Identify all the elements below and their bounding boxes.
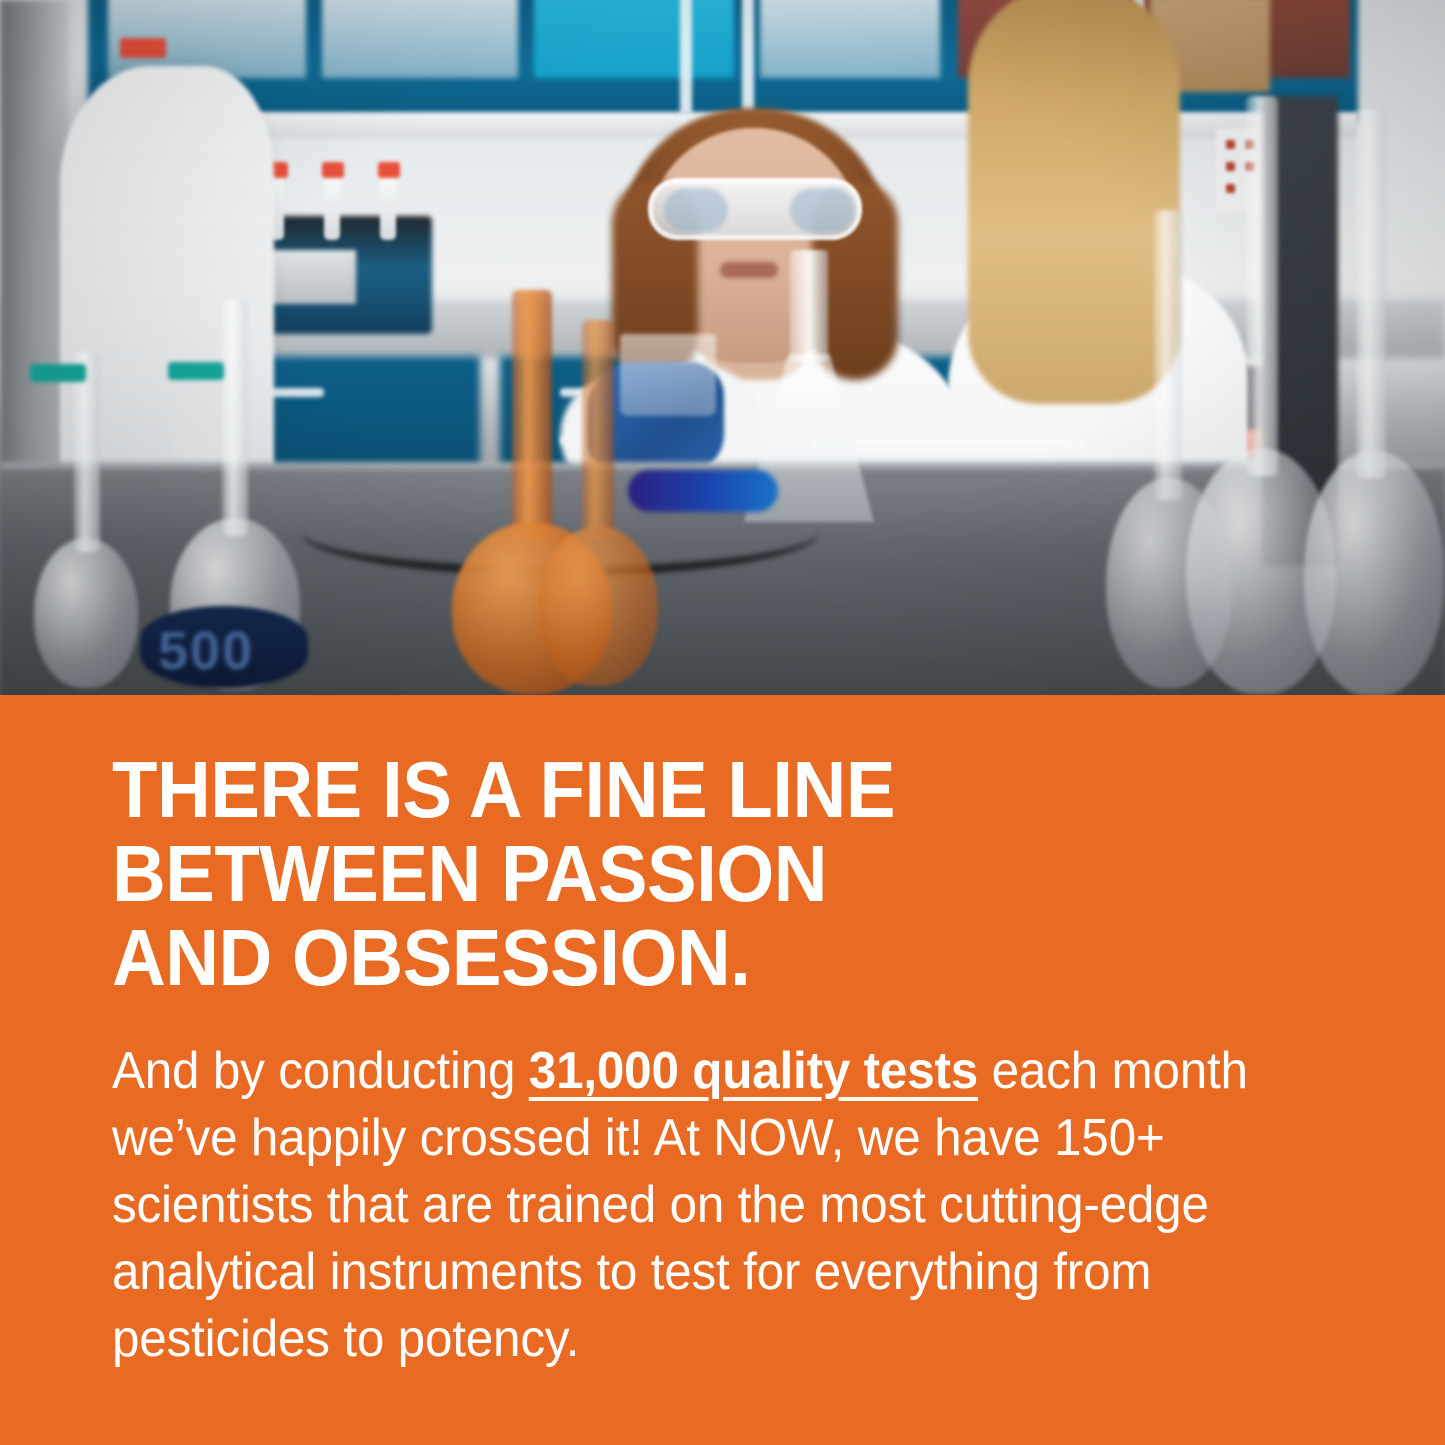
laboratory-photo: 500 [0,0,1445,695]
quality-tests-emphasis: 31,000 quality tests [529,1042,978,1100]
photo-vignette [0,0,1445,695]
headline-line-3: AND OBSESSION. [112,916,1265,1000]
photo-scene: 500 [0,0,1445,695]
headline-line-2: BETWEEN PASSION [112,832,1265,916]
headline-line-1: THERE IS A FINE LINE [112,748,1265,832]
page-title: THERE IS A FINE LINE BETWEEN PASSION AND… [112,748,1265,1000]
body-segment-before: And by conducting [112,1042,529,1100]
body-paragraph: And by conducting 31,000 quality tests e… [112,1038,1281,1373]
promo-poster: 500 [0,0,1445,1445]
